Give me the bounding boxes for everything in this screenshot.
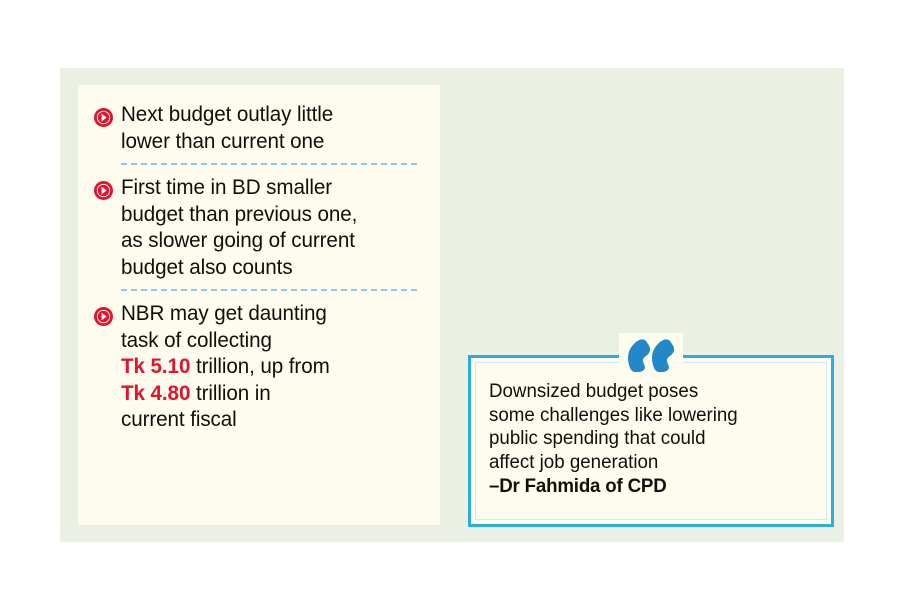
list-item-text: Next budget outlay little lower than cur… xyxy=(121,101,414,154)
bullet-2-line-3: as slower going of current xyxy=(121,228,355,252)
quote-text: Downsized budget poses some challenges l… xyxy=(489,380,816,499)
quote-line-4: affect job generation xyxy=(489,451,658,473)
arrow-right-circle-icon xyxy=(94,108,113,127)
divider xyxy=(121,163,417,165)
list-item: First time in BD smaller budget than pre… xyxy=(94,174,426,280)
amount-next-fiscal: Tk 5.10 xyxy=(121,354,190,378)
bullet-2-line-2: budget than previous one, xyxy=(121,202,357,226)
bullet-3-line-4: trillion in xyxy=(190,381,270,405)
quote-line-3: public spending that could xyxy=(489,427,705,449)
quote-open-icon xyxy=(619,333,683,377)
infographic-canvas: Next budget outlay little lower than cur… xyxy=(60,68,844,542)
bullet-1-line-1: Next budget outlay little xyxy=(121,102,333,126)
bullet-3-line-5: current fiscal xyxy=(121,407,237,431)
quote-attribution: –Dr Fahmida of CPD xyxy=(489,475,667,497)
bullet-3-line-1: NBR may get daunting xyxy=(121,301,327,325)
list-item-text: NBR may get daunting task of collecting … xyxy=(121,300,414,433)
illustration-background xyxy=(452,74,844,342)
bullet-2-line-4: budget also counts xyxy=(121,255,293,279)
quote-line-1: Downsized budget poses xyxy=(489,380,698,402)
list-item: NBR may get daunting task of collecting … xyxy=(94,300,426,433)
quote-box: Downsized budget poses some challenges l… xyxy=(468,355,834,527)
bullet-1-line-2: lower than current one xyxy=(121,129,324,153)
arrow-right-circle-icon xyxy=(94,181,113,200)
bullet-2-line-1: First time in BD smaller xyxy=(121,175,332,199)
arrow-right-circle-icon xyxy=(94,307,113,326)
bullet-3-line-2: task of collecting xyxy=(121,328,272,352)
budget-illustration: Budget xyxy=(452,74,844,342)
bullet-3-line-3: trillion, up from xyxy=(190,354,329,378)
quote-line-2: some challenges like lowering xyxy=(489,404,738,426)
divider xyxy=(121,289,417,291)
list-item-text: First time in BD smaller budget than pre… xyxy=(121,174,414,280)
key-points-panel: Next budget outlay little lower than cur… xyxy=(78,85,440,525)
list-item: Next budget outlay little lower than cur… xyxy=(94,101,426,154)
amount-current-fiscal: Tk 4.80 xyxy=(121,381,190,405)
